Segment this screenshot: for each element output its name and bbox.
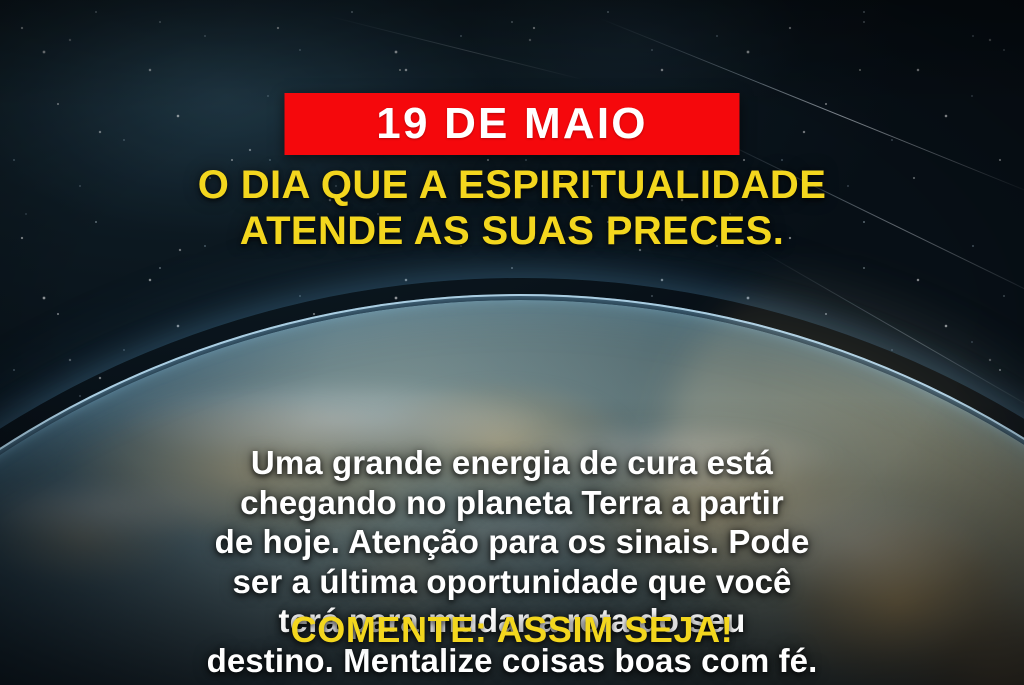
body-line-2: chegando no planeta Terra a partir xyxy=(0,483,1024,523)
poster-content: 19 DE MAIO O DIA QUE A ESPIRITUALIDADE A… xyxy=(0,0,1024,685)
body-line-4: ser a última oportunidade que você xyxy=(0,562,1024,602)
body-line-3: de hoje. Atenção para os sinais. Pode xyxy=(0,522,1024,562)
date-banner-label: 19 DE MAIO xyxy=(376,102,647,146)
social-media-poster: 19 DE MAIO O DIA QUE A ESPIRITUALIDADE A… xyxy=(0,0,1024,685)
headline-line-1: O DIA QUE A ESPIRITUALIDADE xyxy=(0,163,1024,209)
call-to-action-label: COMENTE: ASSIM SEJA! xyxy=(0,612,1024,648)
body-line-1: Uma grande energia de cura está xyxy=(0,443,1024,483)
headline-line-2: ATENDE AS SUAS PRECES. xyxy=(0,209,1024,255)
date-banner: 19 DE MAIO xyxy=(285,93,740,155)
headline: O DIA QUE A ESPIRITUALIDADE ATENDE AS SU… xyxy=(0,163,1024,254)
